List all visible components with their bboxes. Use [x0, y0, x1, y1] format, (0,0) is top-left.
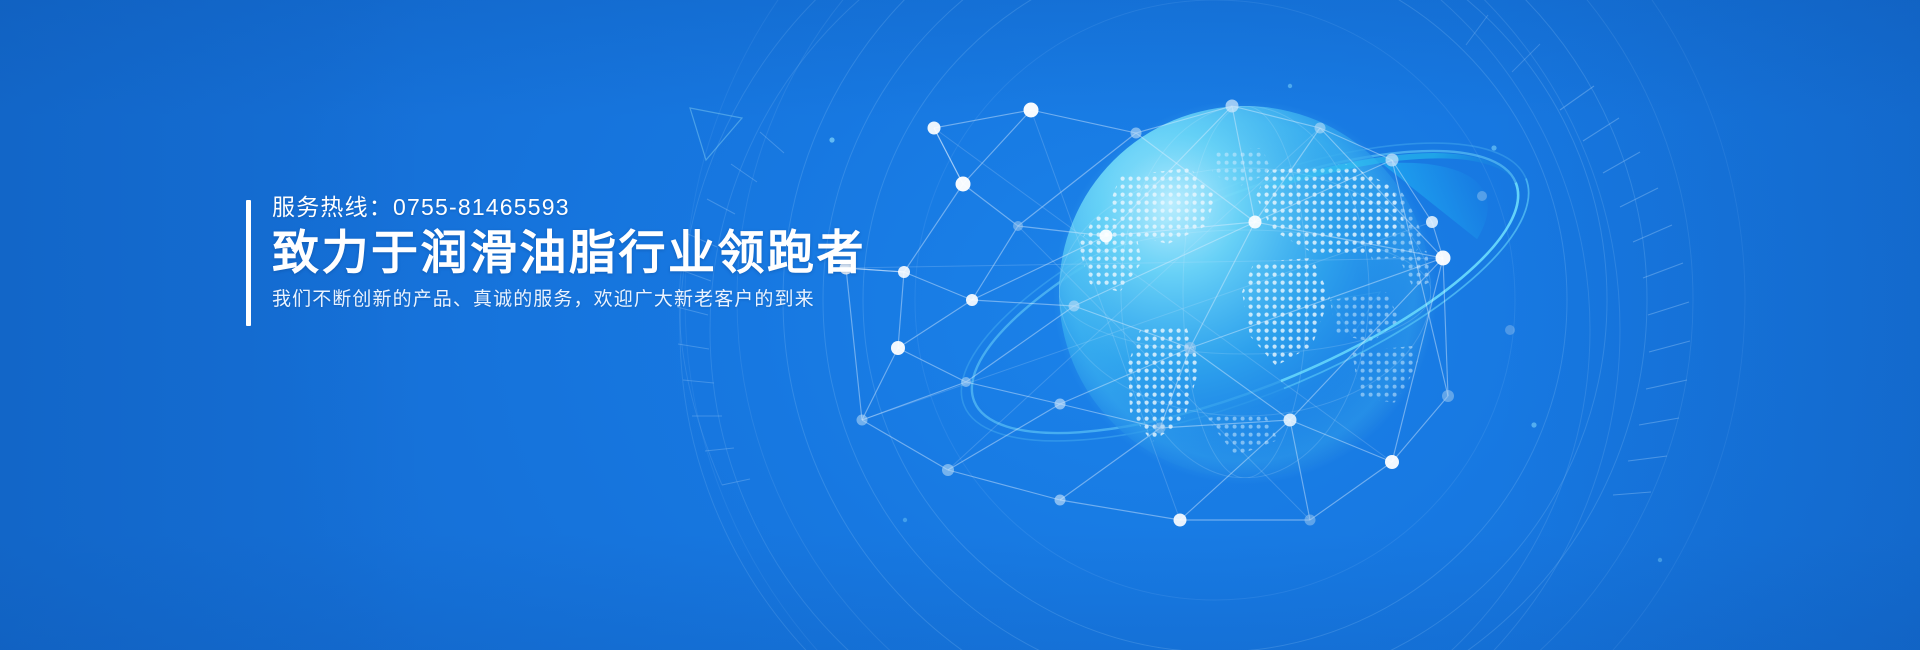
hero-banner: 服务热线：0755-81465593 致力于润滑油脂行业领跑者 我们不断创新的产… — [0, 0, 1920, 650]
globe-network-illustration — [0, 0, 1920, 650]
page-title: 致力于润滑油脂行业领跑者 — [272, 224, 866, 281]
hero-text-block: 服务热线：0755-81465593 致力于润滑油脂行业领跑者 我们不断创新的产… — [246, 196, 866, 312]
page-subtitle: 我们不断创新的产品、真诚的服务，欢迎广大新老客户的到来 — [272, 289, 866, 312]
service-hotline: 服务热线：0755-81465593 — [272, 196, 866, 219]
accent-bar — [246, 200, 251, 326]
